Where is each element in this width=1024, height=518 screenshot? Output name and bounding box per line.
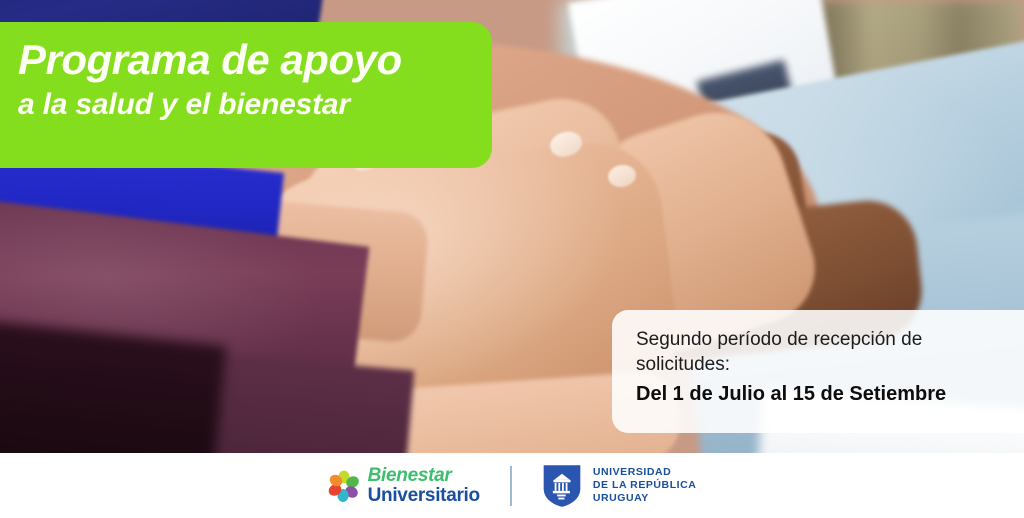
udelar-line-2: DE LA REPÚBLICA <box>593 479 697 492</box>
bienestar-wordmark: Bienestar Universitario <box>368 466 480 505</box>
udelar-line-3: URUGUAY <box>593 492 697 505</box>
page-title: Programa de apoyo <box>18 36 492 83</box>
logo-udelar: UNIVERSIDAD DE LA REPÚBLICA URUGUAY <box>542 464 697 508</box>
shield-icon <box>542 464 582 508</box>
info-line-1: Segundo período de recepción de <box>636 327 1004 352</box>
bienestar-word: Bienestar <box>368 466 480 485</box>
application-dates: Del 1 de Julio al 15 de Setiembre <box>636 380 1004 408</box>
title-banner: Programa de apoyo a la salud y el bienes… <box>0 22 492 168</box>
info-callout: Segundo período de recepción de solicitu… <box>612 310 1024 433</box>
logo-bienestar-universitario: Bienestar Universitario <box>328 466 480 505</box>
footer-divider <box>510 466 512 506</box>
info-line-2: solicitudes: <box>636 352 1004 377</box>
universitario-word: Universitario <box>368 486 480 505</box>
flower-icon <box>328 470 360 502</box>
promotional-banner: Programa de apoyo a la salud y el bienes… <box>0 0 1024 518</box>
udelar-line-1: UNIVERSIDAD <box>593 466 697 479</box>
page-subtitle: a la salud y el bienestar <box>18 87 492 123</box>
udelar-wordmark: UNIVERSIDAD DE LA REPÚBLICA URUGUAY <box>593 466 697 504</box>
footer-logos: Bienestar Universitario <box>0 453 1024 518</box>
